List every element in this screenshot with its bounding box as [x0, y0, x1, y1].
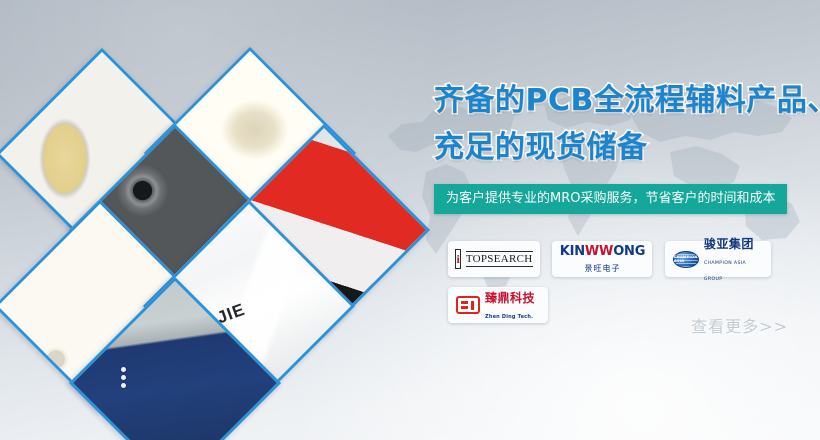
- zhen-ding-english-name: Zhen Ding Tech.: [485, 314, 533, 320]
- topsearch-wordmark: TOPSEARCH: [466, 251, 533, 267]
- partner-logo-kinwong[interactable]: KINWWONG 景旺电子: [552, 241, 652, 277]
- partner-logo-champion-asia[interactable]: CHAMPION ASIA 骏亚集团 CHAMPION ASIA GROUP: [665, 241, 771, 277]
- champion-asia-english-name: CHAMPION ASIA GROUP: [704, 261, 746, 282]
- champion-asia-chinese-name: 骏亚集团: [704, 237, 754, 251]
- banner-copy: 齐备的PCB全流程辅料产品、 充足的现货储备 为客户提供专业的MRO采购服务，节…: [434, 78, 814, 214]
- promo-banner: JIE 齐备的PCB全流程辅料产品、 充足的现货储备 为客户提供专业的MRO采购…: [0, 0, 820, 440]
- globe-icon: CHAMPION ASIA: [673, 251, 699, 268]
- kinwong-lockup: KINWWONG 景旺电子: [560, 243, 646, 275]
- zhen-ding-mark-icon: [456, 296, 480, 314]
- blue-board-dots: [115, 364, 126, 391]
- kinwong-chinese-name: 景旺电子: [584, 264, 620, 273]
- banner-headline-line2: 充足的现货储备: [434, 125, 814, 170]
- partner-logo-topsearch[interactable]: i TOPSEARCH: [448, 241, 540, 277]
- zhen-ding-chinese-name: 臻鼎科技: [485, 291, 535, 305]
- partner-logo-zhen-ding[interactable]: 臻鼎科技 Zhen Ding Tech.: [448, 287, 548, 323]
- banner-subtitle: 为客户提供专业的MRO采购服务，节省客户的时间和成本: [434, 184, 787, 214]
- kinwong-wordmark: KINWWONG: [560, 244, 646, 259]
- view-more-link[interactable]: 查看更多>>: [691, 313, 788, 337]
- topsearch-mark-icon: i: [455, 249, 460, 269]
- champion-asia-lockup: 骏亚集团 CHAMPION ASIA GROUP: [704, 235, 763, 284]
- banner-headline-line1: 齐备的PCB全流程辅料产品、: [434, 78, 814, 123]
- zhen-ding-lockup: 臻鼎科技 Zhen Ding Tech.: [485, 289, 540, 322]
